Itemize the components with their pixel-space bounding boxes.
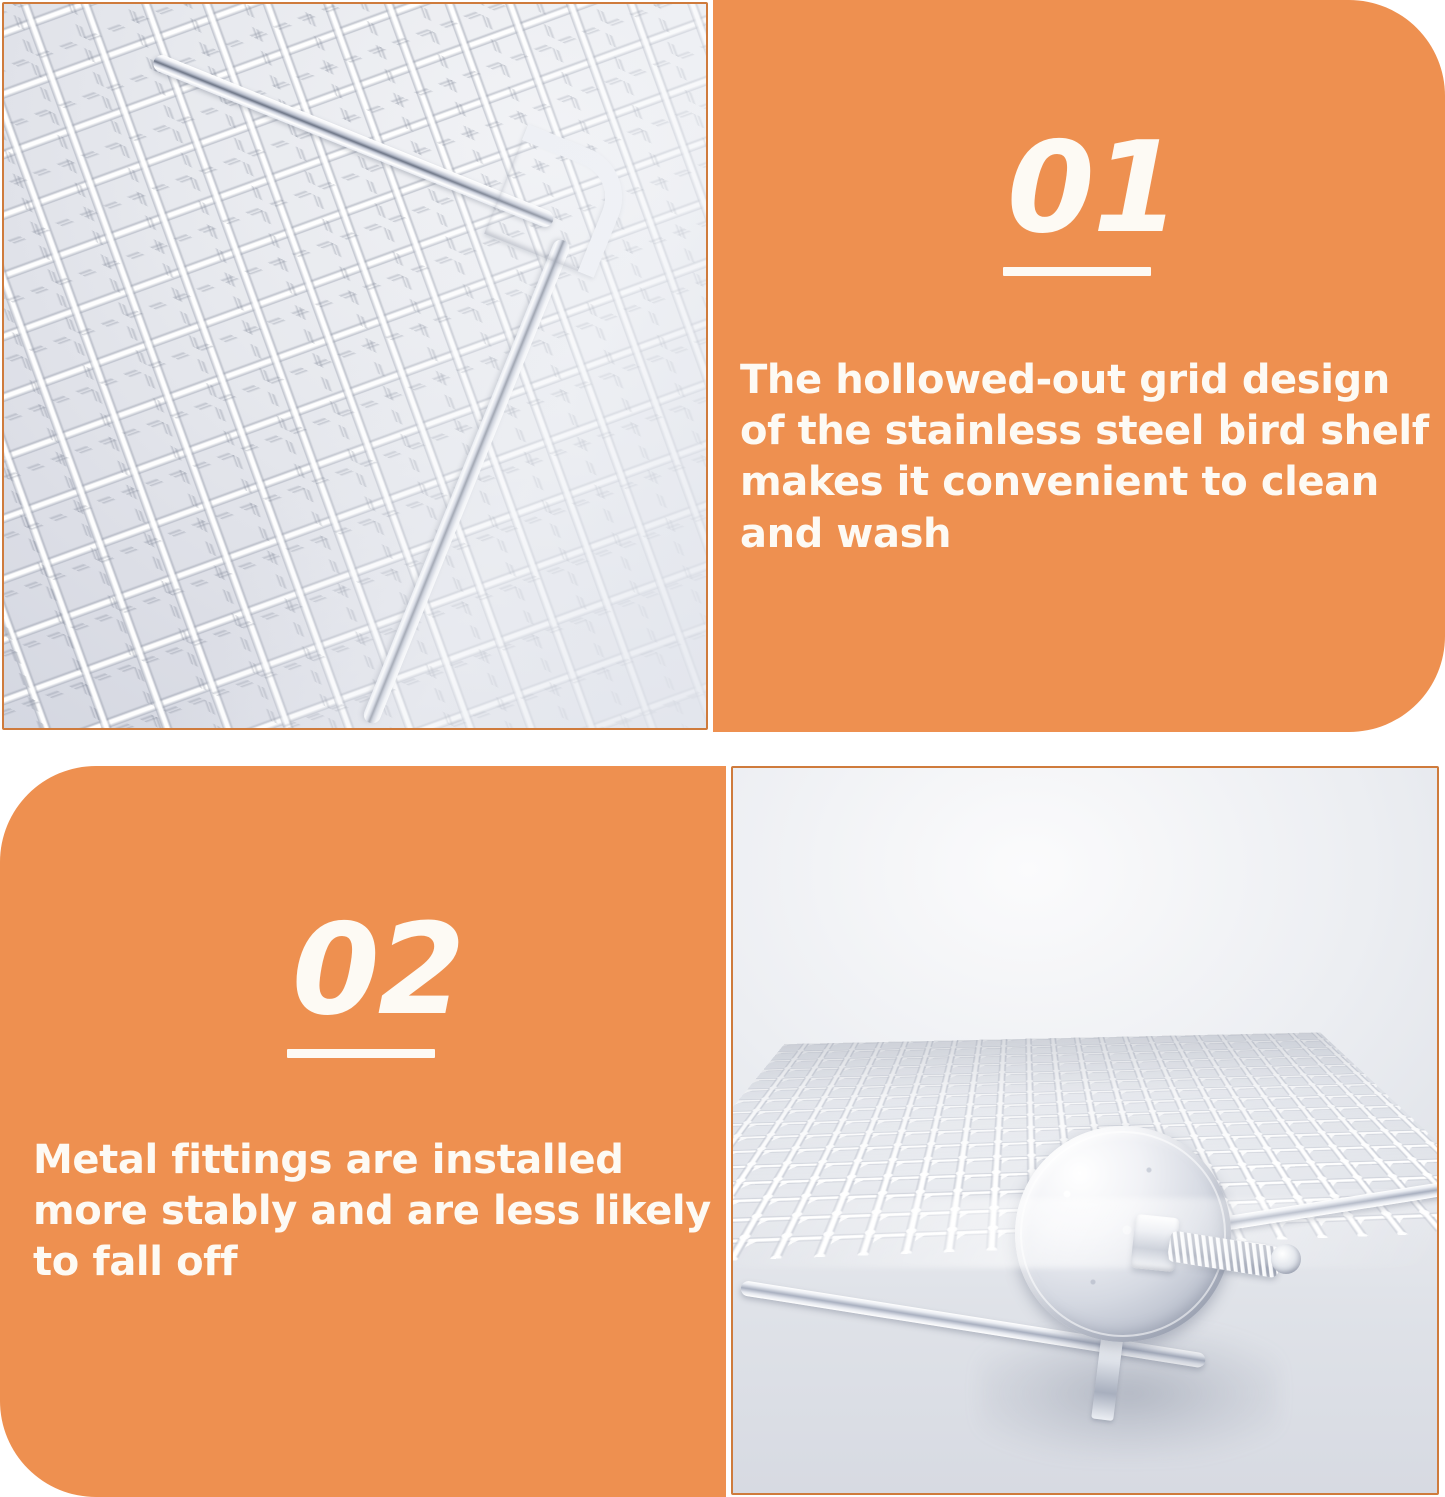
feature-1-number-block: 01 — [1007, 126, 1178, 276]
feature-2-body-text: Metal fittings are installed more stably… — [33, 1135, 723, 1289]
feature-2-photo — [731, 766, 1439, 1495]
feature-1-number-underline — [1003, 267, 1151, 276]
feature-2-text-panel — [0, 766, 726, 1497]
feature-1-body-text: The hollowed-out grid design of the stai… — [740, 355, 1430, 560]
feature-1-number: 01 — [1007, 126, 1178, 249]
feature-1-photo — [2, 2, 708, 730]
photo-1-light-falloff — [4, 4, 706, 728]
feature-2-number-block: 02 — [292, 908, 463, 1058]
feature-2-number: 02 — [292, 908, 463, 1031]
feature-2-number-underline — [287, 1049, 435, 1058]
infographic-sheet: 01 The hollowed-out grid design of the s… — [0, 0, 1445, 1497]
photo-2-sheen — [733, 1198, 1439, 1268]
fitting-drop-shadow — [979, 1328, 1279, 1458]
